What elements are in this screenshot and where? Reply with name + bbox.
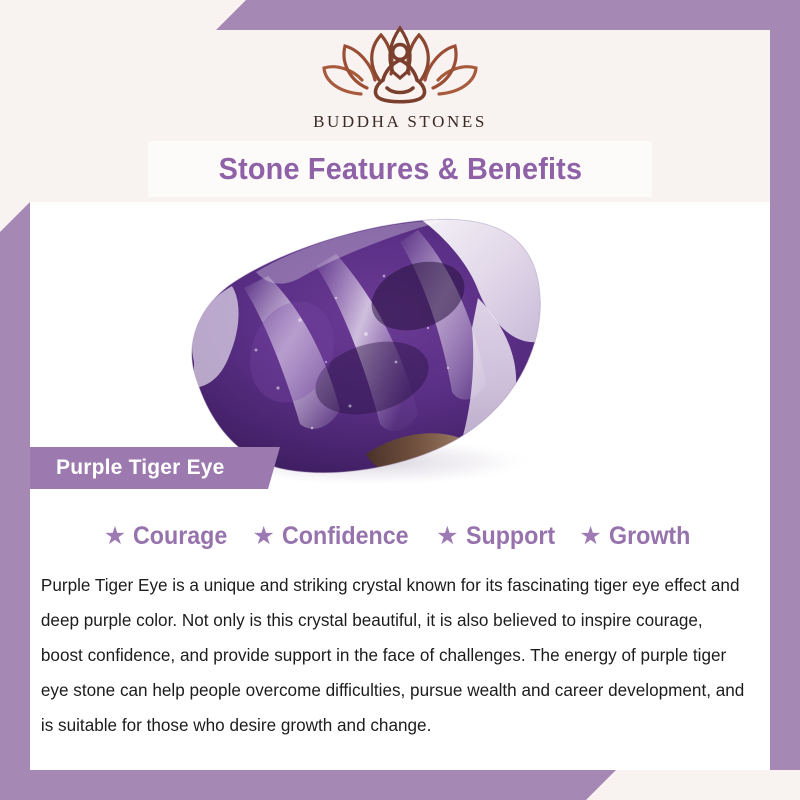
benefits-row: ★ Courage ★ Confidence ★ Support ★ Growt… xyxy=(30,522,770,551)
infographic-page: BUDDHA STONES Stone Features & Benefits xyxy=(0,0,800,800)
benefit-label-growth: Growth xyxy=(609,522,690,551)
page-title: Stone Features & Benefits xyxy=(218,151,582,187)
benefit-label-courage: Courage xyxy=(133,522,227,551)
star-icon: ★ xyxy=(436,524,458,549)
lotus-meditation-icon xyxy=(315,18,485,110)
product-name-badge: Purple Tiger Eye xyxy=(30,447,280,489)
benefit-item-growth: ★ Growth xyxy=(579,522,696,551)
frame-band-bottom xyxy=(0,770,616,800)
brand-logo: BUDDHA STONES xyxy=(0,18,800,132)
title-plate: Stone Features & Benefits xyxy=(148,141,652,197)
benefit-label-confidence: Confidence xyxy=(282,522,409,551)
benefit-item-courage: ★ Courage xyxy=(104,522,235,551)
description-paragraph: Purple Tiger Eye is a unique and strikin… xyxy=(35,568,754,743)
product-name-label: Purple Tiger Eye xyxy=(30,456,225,480)
star-icon: ★ xyxy=(104,524,126,549)
brand-name: BUDDHA STONES xyxy=(313,112,487,132)
header: BUDDHA STONES Stone Features & Benefits xyxy=(0,0,800,202)
star-icon: ★ xyxy=(253,524,275,549)
frame-band-left xyxy=(0,202,30,800)
benefit-item-support: ★ Support xyxy=(436,522,561,551)
content-card: Purple Tiger Eye ★ Courage ★ Confidence … xyxy=(30,202,770,770)
star-icon: ★ xyxy=(579,524,601,549)
benefit-label-support: Support xyxy=(466,522,555,551)
benefit-item-confidence: ★ Confidence xyxy=(253,522,419,551)
